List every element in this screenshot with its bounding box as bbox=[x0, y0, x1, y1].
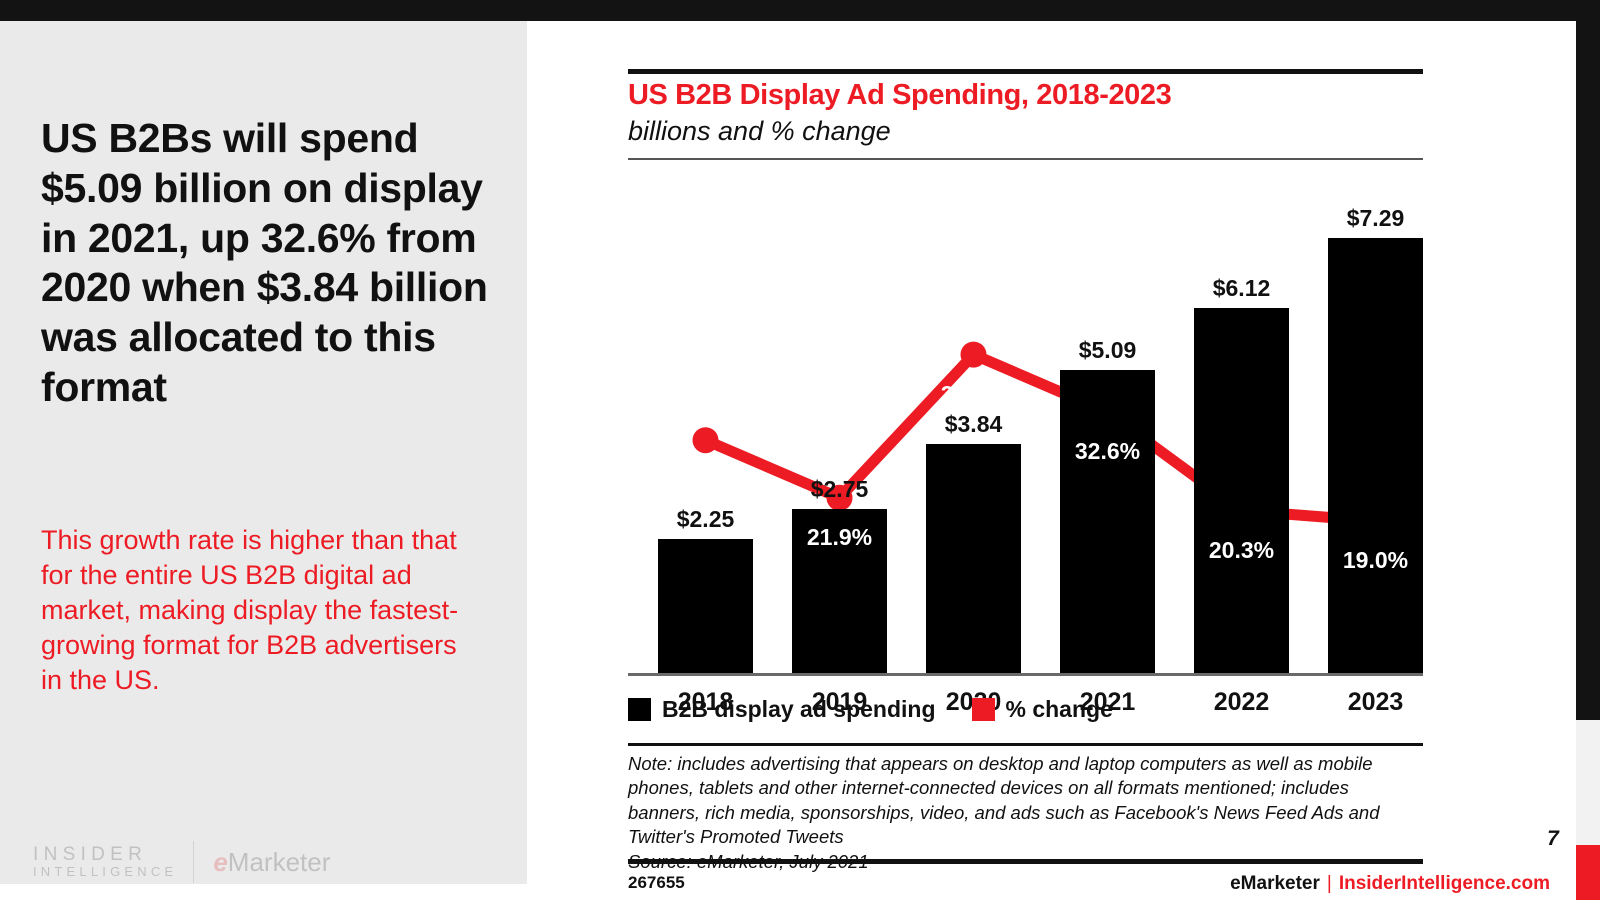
bar-value-label-2023: $7.29 bbox=[1316, 205, 1436, 232]
bar-2021 bbox=[1060, 370, 1155, 673]
bar-2018 bbox=[658, 539, 753, 673]
legend-item-line: % change bbox=[972, 696, 1113, 723]
legend-item-bar: B2B display ad spending bbox=[628, 696, 936, 723]
chart-legend: B2B display ad spending % change bbox=[628, 696, 1149, 723]
chart-note: Note: includes advertising that appears … bbox=[628, 752, 1428, 874]
legend-label-line: % change bbox=[1006, 696, 1113, 723]
bar-2023 bbox=[1328, 238, 1423, 673]
emarketer-rest: Marketer bbox=[228, 847, 331, 877]
pct-marker-2020 bbox=[961, 342, 987, 368]
footer-brand-separator: | bbox=[1327, 873, 1332, 894]
bar-value-label-2019: $2.75 bbox=[780, 476, 900, 503]
insider-intelligence-wordmark: INSIDER INTELLIGENCE bbox=[33, 845, 177, 879]
pct-value-label-2021: 32.6% bbox=[1048, 438, 1168, 465]
right-edge-gray-bar bbox=[1576, 720, 1600, 845]
logo-line-intelligence: INTELLIGENCE bbox=[33, 865, 177, 879]
pct-value-label-2022: 20.3% bbox=[1182, 537, 1302, 564]
bar-value-label-2021: $5.09 bbox=[1048, 337, 1168, 364]
title-bottom-rule bbox=[628, 158, 1423, 160]
logo-divider bbox=[193, 841, 194, 883]
right-edge-black-bar bbox=[1576, 21, 1600, 720]
note-top-rule bbox=[628, 743, 1423, 746]
right-edge-red-bar bbox=[1576, 845, 1600, 900]
note-line: Twitter's Promoted Tweets bbox=[628, 825, 1428, 849]
slide-canvas: US B2Bs will spend $5.09 billion on disp… bbox=[0, 0, 1600, 900]
chart-id-number: 267655 bbox=[628, 873, 685, 893]
slide-subcopy: This growth rate is higher than that for… bbox=[41, 523, 461, 698]
bar-value-label-2022: $6.12 bbox=[1182, 275, 1302, 302]
legend-label-bar: B2B display ad spending bbox=[662, 696, 936, 723]
slide-headline: US B2Bs will spend $5.09 billion on disp… bbox=[41, 114, 491, 413]
note-line: Note: includes advertising that appears … bbox=[628, 752, 1428, 776]
pct-value-label-2018: 29.1% bbox=[646, 466, 766, 493]
pct-value-label-2019: 21.9% bbox=[780, 524, 900, 551]
footer-brand-domain: InsiderIntelligence.com bbox=[1339, 873, 1550, 894]
top-black-bar bbox=[0, 0, 1600, 21]
footer-brand-emarketer: eMarketer bbox=[1230, 873, 1320, 894]
legend-swatch-black-square-icon bbox=[628, 698, 651, 721]
footer-brand: eMarketer|InsiderIntelligence.com bbox=[1230, 873, 1550, 895]
chart-panel: US B2B Display Ad Spending, 2018-2023 bi… bbox=[527, 21, 1576, 884]
footer-rule bbox=[628, 859, 1423, 864]
x-axis-tick-2023: 2023 bbox=[1316, 688, 1436, 717]
pct-value-label-2020: 39.8% bbox=[914, 381, 1034, 408]
x-axis-tick-2022: 2022 bbox=[1182, 688, 1302, 717]
bar-2022 bbox=[1194, 308, 1289, 673]
pct-value-label-2023: 19.0% bbox=[1316, 547, 1436, 574]
logo-line-insider: INSIDER bbox=[33, 845, 177, 865]
title-top-rule bbox=[628, 69, 1423, 74]
left-text-panel: US B2Bs will spend $5.09 billion on disp… bbox=[0, 21, 527, 884]
pct-marker-2018 bbox=[693, 427, 719, 453]
chart-subtitle: billions and % change bbox=[628, 116, 891, 147]
bar-value-label-2020: $3.84 bbox=[914, 411, 1034, 438]
emarketer-wordmark: eMarketer bbox=[213, 847, 330, 878]
bar-value-label-2018: $2.25 bbox=[646, 506, 766, 533]
page-number: 7 bbox=[1540, 827, 1566, 851]
note-line: phones, tablets and other internet-conne… bbox=[628, 776, 1428, 800]
legend-swatch-red-square-icon bbox=[972, 698, 995, 721]
insider-intelligence-logo: INSIDER INTELLIGENCE eMarketer bbox=[33, 841, 330, 883]
chart-title: US B2B Display Ad Spending, 2018-2023 bbox=[628, 79, 1171, 112]
chart-plot-area: $2.252018$2.752019$3.842020$5.092021$6.1… bbox=[628, 176, 1423, 676]
emarketer-e-glyph: e bbox=[213, 847, 227, 877]
bar-2020 bbox=[926, 444, 1021, 673]
note-line: banners, rich media, sponsorships, video… bbox=[628, 801, 1428, 825]
